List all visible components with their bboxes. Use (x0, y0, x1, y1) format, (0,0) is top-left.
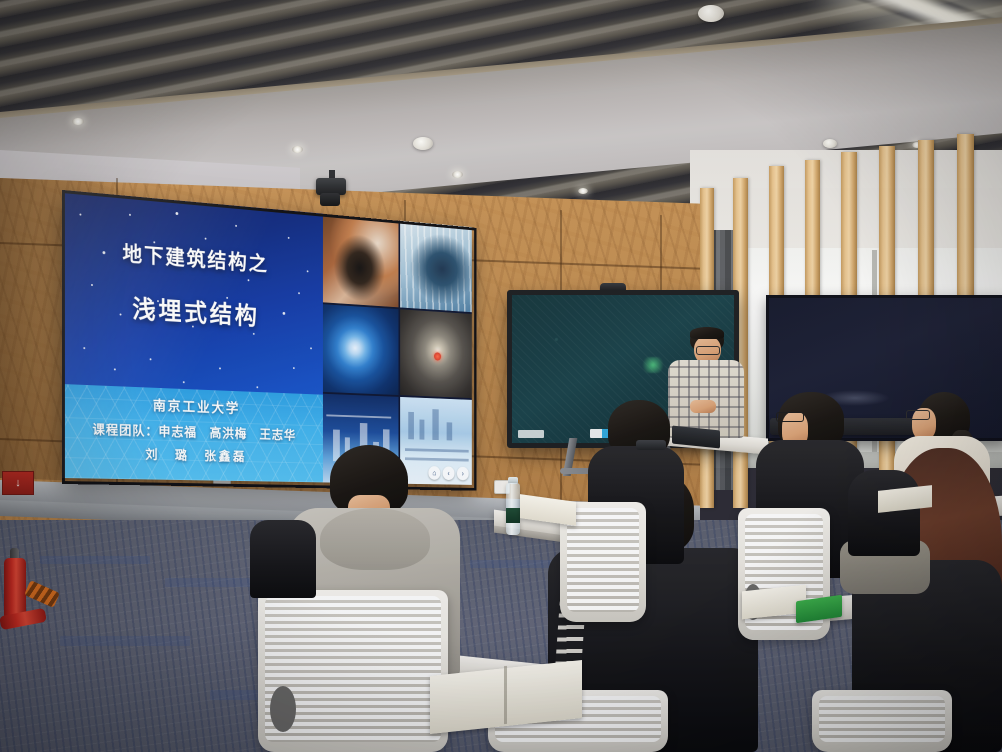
bottle-label (506, 508, 520, 523)
teacher-hair-top (690, 327, 724, 339)
down-arrow-icon: ↓ (15, 478, 21, 489)
photo-shotcrete-tunnel-arch (400, 221, 472, 312)
slide-home-button[interactable]: ⌂ (428, 466, 440, 480)
downlight-icon (72, 118, 84, 125)
smoke-detector-icon (698, 5, 724, 22)
slide-footer: 南京工业大学 课程团队：申志福 高洪梅 王志华 刘 璐 张鑫磊 (62, 384, 323, 482)
desk-equipment (636, 440, 666, 450)
tunnel-signal-light-icon (434, 352, 441, 361)
downlight-icon (452, 171, 463, 178)
student-e-glasses-icon (906, 410, 930, 420)
fire-extinguisher-sign: ↓ (2, 471, 34, 495)
led-video-wall[interactable]: 地下建筑结构之 浅埋式结构 南京工业大学 课程团队：申志福 高洪梅 王志华 刘 … (62, 190, 472, 485)
photo-rock-tunnel-excavation (323, 214, 398, 307)
smoke-detector-icon (413, 137, 433, 150)
student-h-bag (250, 520, 316, 598)
slide-prev-button[interactable]: ‹ (443, 466, 455, 480)
chair (812, 690, 952, 752)
photo-underground-city-render-light: ⌂ ‹ › (400, 397, 472, 485)
teacher-glasses-icon (696, 346, 720, 355)
student-hoodie-hood (320, 508, 430, 570)
ifp-screen-artifact (640, 357, 666, 373)
photo-blue-spiral-tunnel (323, 304, 398, 395)
downlight-icon (292, 146, 303, 153)
notebook-spine (504, 666, 507, 724)
wall-camera-lens-icon (320, 193, 340, 206)
smoke-detector-icon (823, 139, 837, 148)
ifp-taskbar-left-icon[interactable] (518, 430, 544, 438)
slide-next-button[interactable]: › (457, 467, 469, 481)
chair (258, 590, 448, 752)
slide-photo-grid: ⌂ ‹ › (323, 214, 472, 485)
student-c-glasses-icon (776, 412, 804, 422)
photo-metro-running-tunnel (400, 309, 472, 398)
student-g-jacket (848, 470, 920, 556)
teacher-hands (690, 400, 716, 413)
slide-title-panel: 地下建筑结构之 浅埋式结构 南京工业大学 课程团队：申志福 高洪梅 王志华 刘 … (62, 190, 323, 482)
downlight-icon (578, 188, 588, 194)
classroom-photo: 地下建筑结构之 浅埋式结构 南京工业大学 课程团队：申志福 高洪梅 王志华 刘 … (0, 0, 1002, 752)
fire-extinguisher (4, 558, 26, 620)
